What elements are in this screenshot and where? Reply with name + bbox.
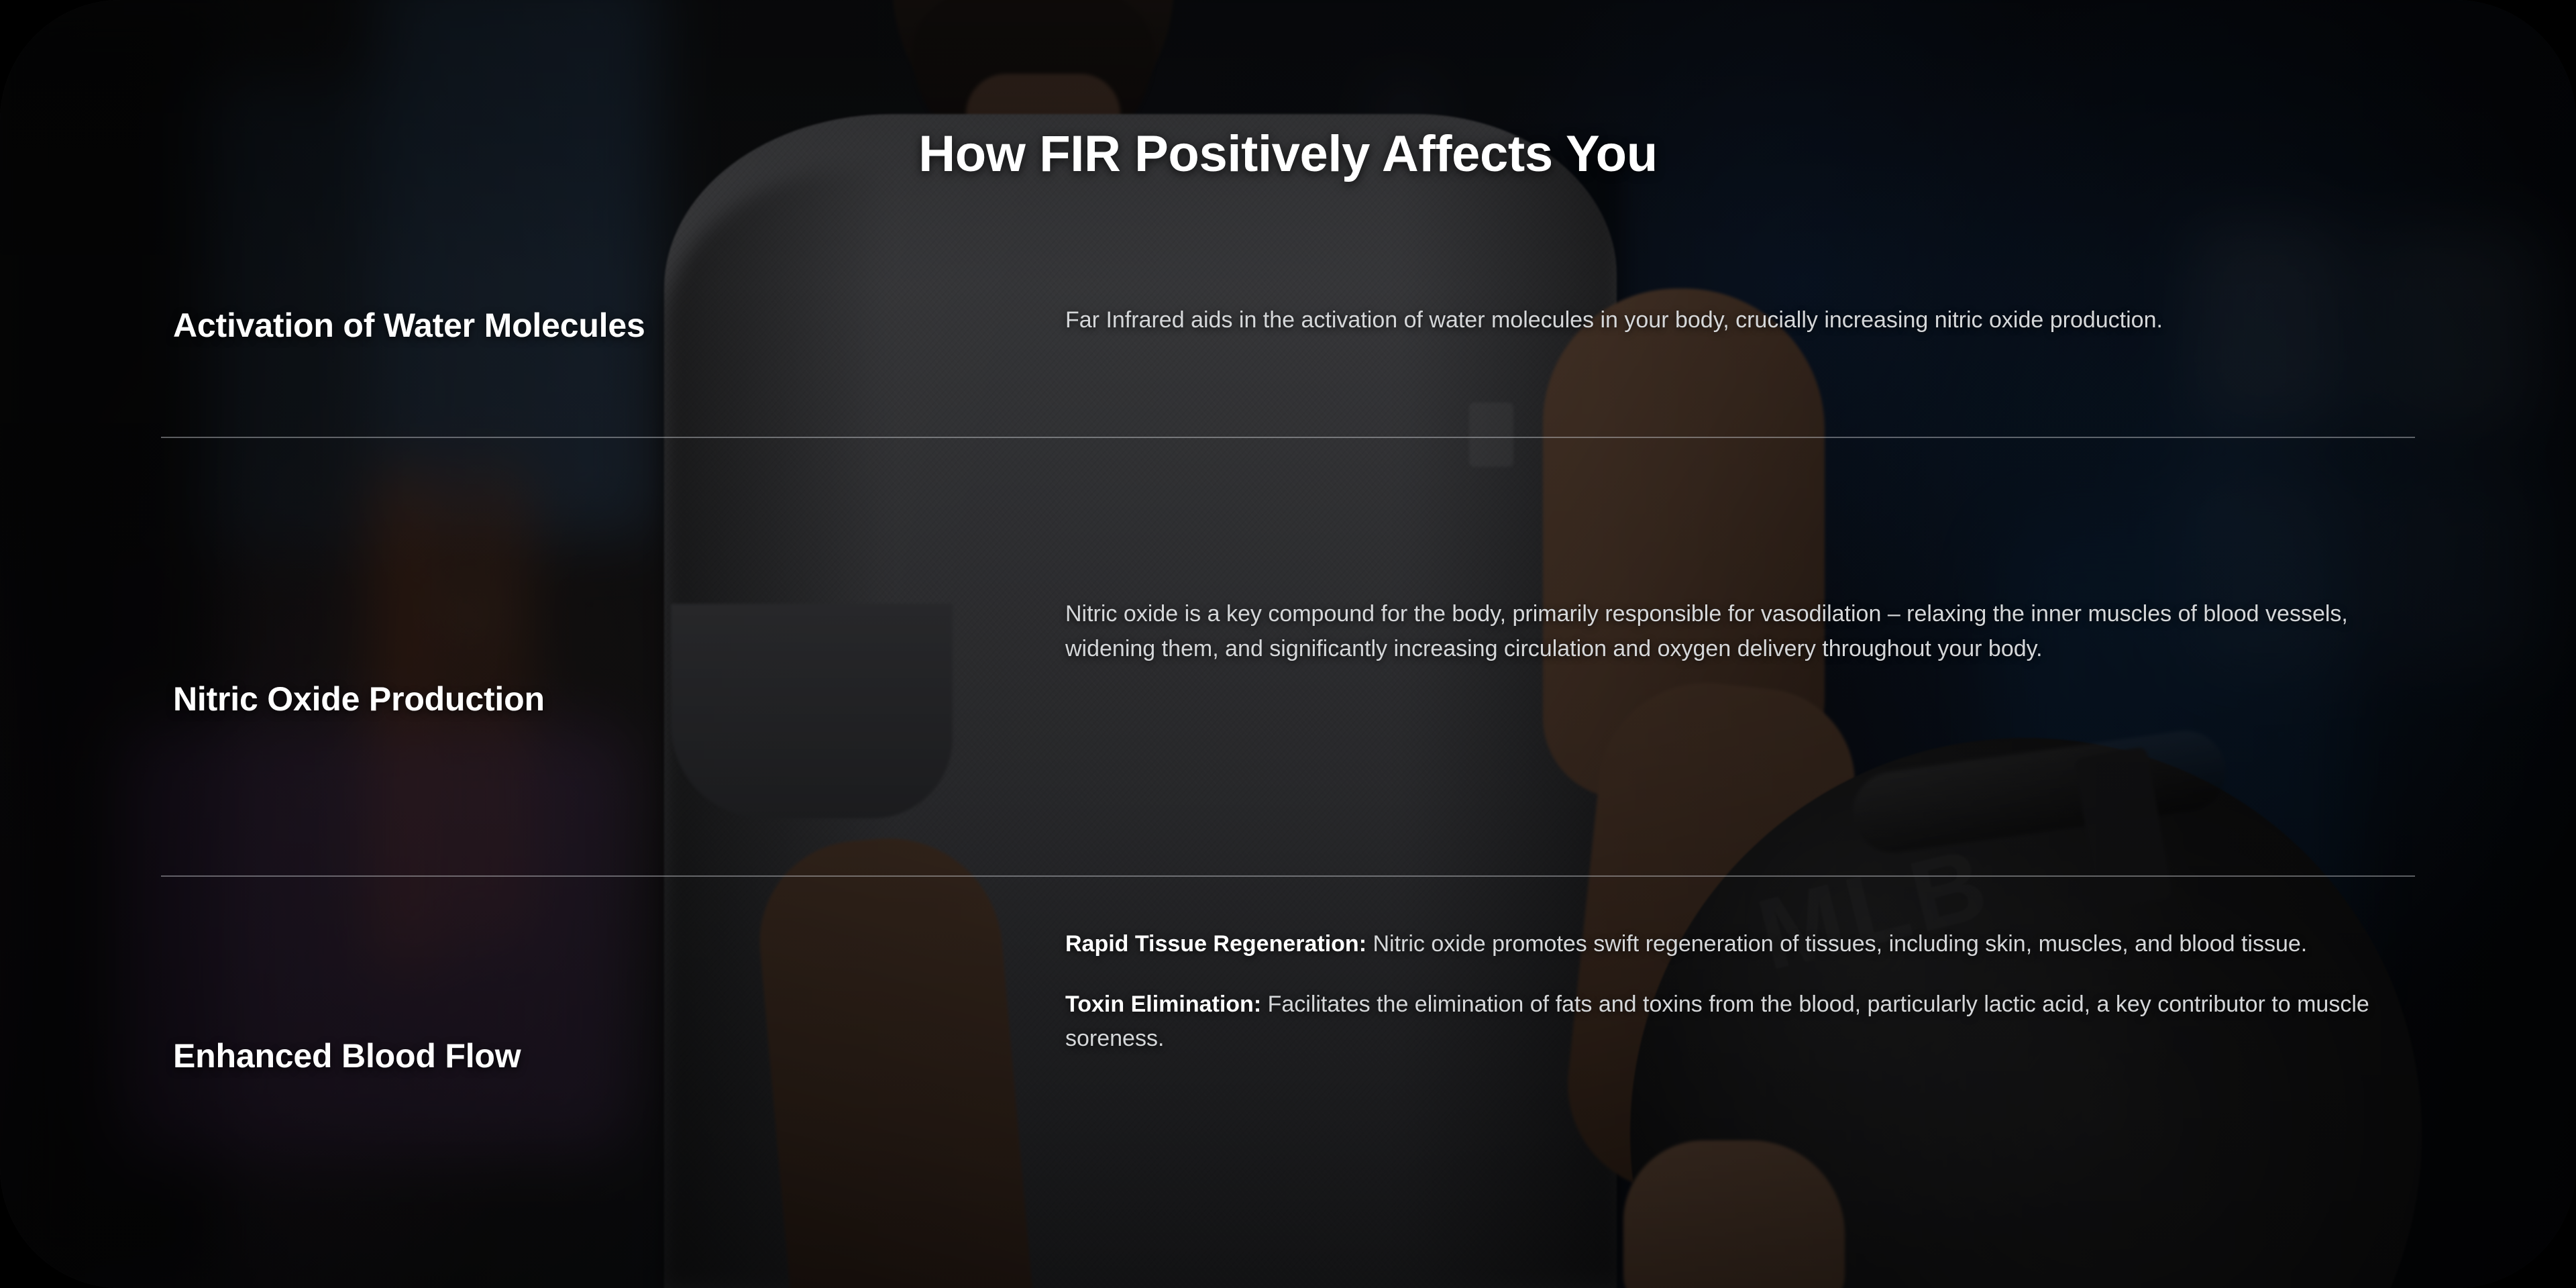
benefit-paragraph: Nitric oxide is a key compound for the b…: [1065, 597, 2415, 666]
benefit-paragraph-text: Nitric oxide is a key compound for the b…: [1065, 601, 2348, 661]
benefit-paragraph-text: Far Infrared aids in the activation of w…: [1065, 307, 2163, 333]
benefit-paragraph-lead: Toxin Elimination:: [1065, 991, 1261, 1017]
benefit-row: Enhanced Blood Flow Rapid Tissue Regener…: [0, 912, 2576, 1201]
card-content: How FIR Positively Affects You Activatio…: [0, 0, 2576, 1288]
benefit-paragraph-lead: Rapid Tissue Regeneration:: [1065, 931, 1366, 957]
benefit-paragraph: Far Infrared aids in the activation of w…: [1065, 303, 2415, 338]
benefit-row: Nitric Oxide Production Nitric oxide is …: [0, 590, 2576, 875]
benefit-body: Far Infrared aids in the activation of w…: [1065, 303, 2415, 338]
benefit-heading: Activation of Water Molecules: [173, 306, 1032, 345]
benefit-row: Activation of Water Molecules Far Infrar…: [0, 288, 2576, 437]
benefit-body: Nitric oxide is a key compound for the b…: [1065, 597, 2415, 666]
row-divider: [161, 875, 2415, 877]
benefit-paragraph-text: Nitric oxide promotes swift regeneration…: [1366, 931, 2307, 957]
info-card: MLB How FIR Positively Affects You Activ…: [0, 0, 2576, 1288]
benefit-paragraph-text: Facilitates the elimination of fats and …: [1065, 991, 2369, 1052]
benefit-body: Rapid Tissue Regeneration: Nitric oxide …: [1065, 927, 2415, 1057]
page-title: How FIR Positively Affects You: [0, 125, 2576, 183]
benefit-paragraph: Rapid Tissue Regeneration: Nitric oxide …: [1065, 927, 2415, 962]
benefit-heading: Enhanced Blood Flow: [173, 1036, 1032, 1075]
benefit-heading: Nitric Oxide Production: [173, 680, 1032, 718]
benefit-paragraph: Toxin Elimination: Facilitates the elimi…: [1065, 987, 2415, 1057]
